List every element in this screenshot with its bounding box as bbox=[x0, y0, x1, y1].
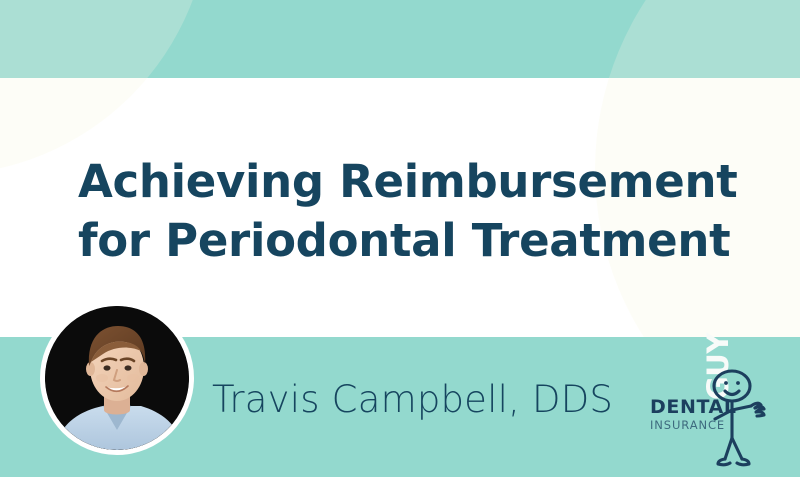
slide-title: Achieving Reimbursement for Periodontal … bbox=[78, 152, 778, 271]
speaker-name: Travis Campbell, DDS bbox=[212, 378, 613, 421]
title-line-2: for Periodontal Treatment bbox=[78, 211, 778, 270]
decorative-circle-left bbox=[0, 0, 210, 78]
stick-figure-waving-icon bbox=[700, 362, 776, 470]
dental-insurance-guy-logo[interactable]: DENTAL INSURANCE GUY bbox=[648, 362, 776, 470]
title-slide: Achieving Reimbursement for Periodontal … bbox=[0, 0, 800, 477]
decorative-circle-right bbox=[595, 0, 800, 78]
avatar bbox=[45, 306, 189, 450]
title-line-1: Achieving Reimbursement bbox=[78, 152, 778, 211]
top-band-decoration-layer bbox=[0, 0, 800, 78]
speaker-headshot-photo bbox=[45, 306, 189, 450]
